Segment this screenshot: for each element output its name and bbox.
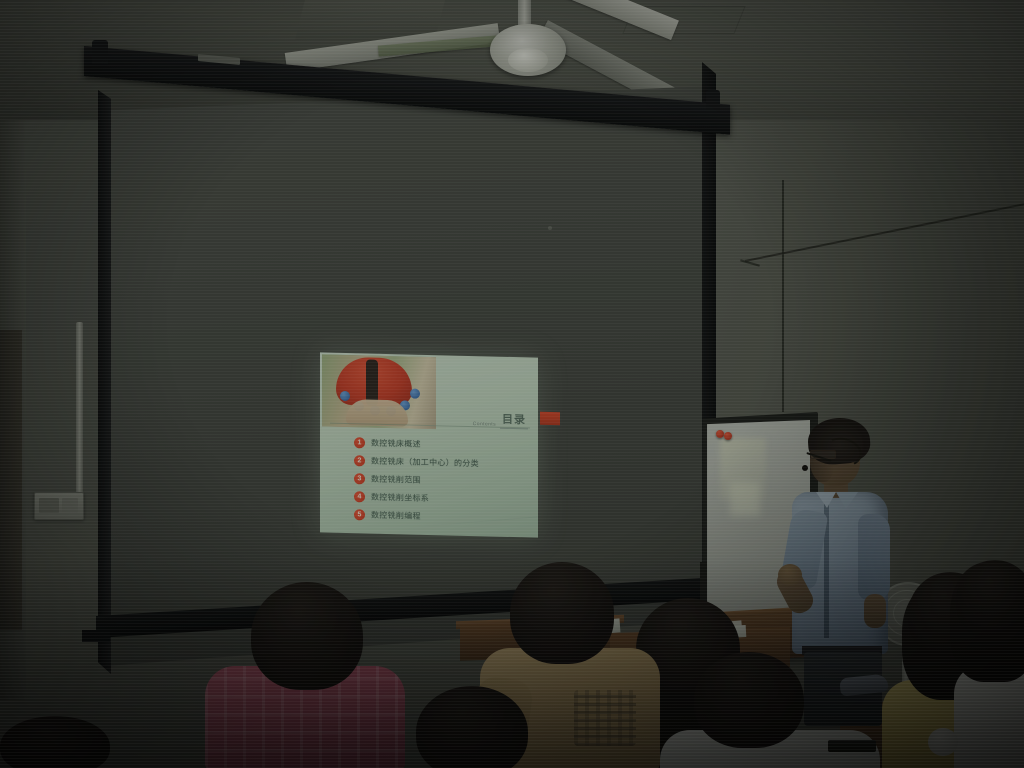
list-item-label: 数控铣床（加工中心）的分类 — [371, 455, 479, 469]
projected-slide: Contents 目录 1 数控铣床概述 2 数控铣床（加工中心）的分类 3 数… — [320, 352, 538, 537]
list-item-number: 2 — [354, 455, 365, 466]
slide-contents-list: 1 数控铣床概述 2 数控铣床（加工中心）的分类 3 数控铣削范围 4 数控铣削… — [354, 433, 530, 527]
list-item-label: 数控铣削编程 — [371, 509, 421, 521]
student-front-center — [400, 686, 550, 768]
list-item-number: 4 — [354, 491, 365, 502]
wall-outlet[interactable] — [34, 492, 84, 520]
student-head — [956, 560, 1024, 640]
student-white-shirt — [660, 652, 880, 768]
list-item-label: 数控铣床概述 — [371, 437, 421, 449]
screen-pull-cord — [782, 180, 784, 412]
projection-screen — [78, 46, 728, 646]
screen-bottom-foot — [82, 630, 110, 642]
headset-microphone-capsule — [802, 465, 808, 471]
slide-photo-tool-holder — [410, 389, 420, 399]
student-shirt-label — [828, 740, 876, 752]
list-item-number: 3 — [354, 473, 365, 484]
list-item-number: 5 — [354, 509, 365, 520]
slide-header-accent-block — [540, 412, 560, 425]
whiteboard-magnet[interactable] — [724, 432, 732, 440]
student-head — [416, 686, 528, 768]
screen-left-post — [98, 90, 111, 674]
slide-photo — [322, 354, 436, 429]
slide-photo-tool-holder — [340, 391, 350, 401]
list-item-label: 数控铣削坐标系 — [371, 491, 429, 503]
whiteboard-magnet[interactable] — [716, 430, 724, 438]
classroom-photo: Contents 目录 1 数控铣床概述 2 数控铣床（加工中心）的分类 3 数… — [0, 0, 1024, 768]
whiteboard-smudge — [730, 482, 760, 516]
outlet-socket-left — [39, 498, 59, 513]
screen-mount-bracket-right — [706, 90, 720, 112]
student-head — [510, 562, 614, 664]
student-bottom-left — [0, 716, 120, 768]
student-plaid-shirt — [205, 582, 405, 768]
screen-mount-bracket-left — [92, 40, 108, 64]
student-head — [251, 582, 363, 690]
outlet-socket-right — [62, 498, 78, 513]
door-frame — [0, 330, 22, 630]
student-head — [0, 716, 110, 768]
list-item-label: 数控铣削范围 — [371, 473, 421, 485]
instructor-left-fist — [778, 564, 802, 586]
student-right-white — [950, 560, 1024, 768]
list-item-number: 1 — [354, 437, 365, 448]
student-shirt-graphic — [574, 690, 636, 746]
student-head — [694, 652, 804, 748]
screen-blemish — [548, 226, 552, 230]
student-object — [928, 728, 958, 756]
